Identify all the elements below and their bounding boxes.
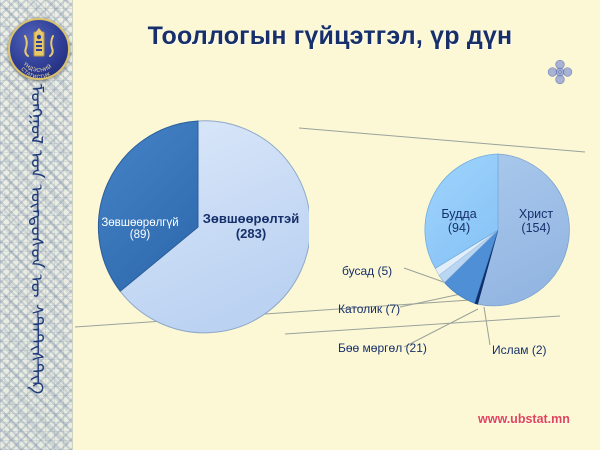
mongolian-script-column: ᠮᠣᠩᠭᠣᠯ ᠤᠨ ᠦᠨᠳᠦᠰᠦᠨ ᠦ ᠰᠲ᠋ᠠᠲ᠋ᠢᠰᠲ᠋ᠢᠺ: [0, 84, 72, 414]
label-budda: Будда (94): [429, 207, 489, 235]
label-khrist: Христ (154): [505, 207, 567, 235]
label-budda-value: (94): [429, 221, 489, 235]
label-khrist-value: (154): [505, 221, 567, 235]
label-budda-text: Будда: [441, 207, 476, 221]
mongolian-script-text: ᠮᠣᠩᠭᠣᠯ ᠤᠨ ᠦᠨᠳᠦᠰᠦᠨ ᠦ ᠰᠲ᠋ᠠᠲ᠋ᠢᠰᠲ᠋ᠢᠺ: [28, 84, 45, 394]
national-statistics-emblem-icon: ҮНДЭСНИЙ СТАТИСТИК: [8, 18, 70, 80]
label-zovshoorultei-value: (283): [196, 226, 306, 241]
emblem-svg: ҮНДЭСНИЙ СТАТИСТИК: [10, 20, 68, 78]
label-katolik: Католик (7): [338, 302, 400, 316]
label-zovshoorultei: Зөвшөөрөлтэй (283): [196, 211, 306, 241]
label-zovshoorolgui-text: Зөвшөөрөлгүй: [101, 217, 178, 229]
slide-title: Тооллогын гүйцэтгэл, үр дүн: [120, 22, 540, 51]
website-url[interactable]: www.ubstat.mn: [478, 412, 570, 426]
label-busad: бусад (5): [342, 264, 392, 278]
label-boo-morgol: Бөө мөргөл (21): [338, 341, 427, 355]
label-khrist-text: Христ: [519, 207, 553, 221]
label-zovshoorultei-text: Зөвшөөрөлтэй: [203, 211, 299, 226]
slide-canvas: ᠮᠣᠩᠭᠣᠯ ᠤᠨ ᠦᠨᠳᠦᠰᠦᠨ ᠦ ᠰᠲ᠋ᠠᠲ᠋ᠢᠰᠲ᠋ᠢᠺ ҮНДЭСНИ…: [0, 0, 600, 450]
label-zovshoorolgui: Зөвшөөрөлгүй (89): [92, 217, 188, 241]
label-zovshoorolgui-value: (89): [92, 229, 188, 241]
floral-diamond-ornament-icon: [546, 58, 574, 86]
label-islam: Ислам (2): [492, 343, 547, 357]
